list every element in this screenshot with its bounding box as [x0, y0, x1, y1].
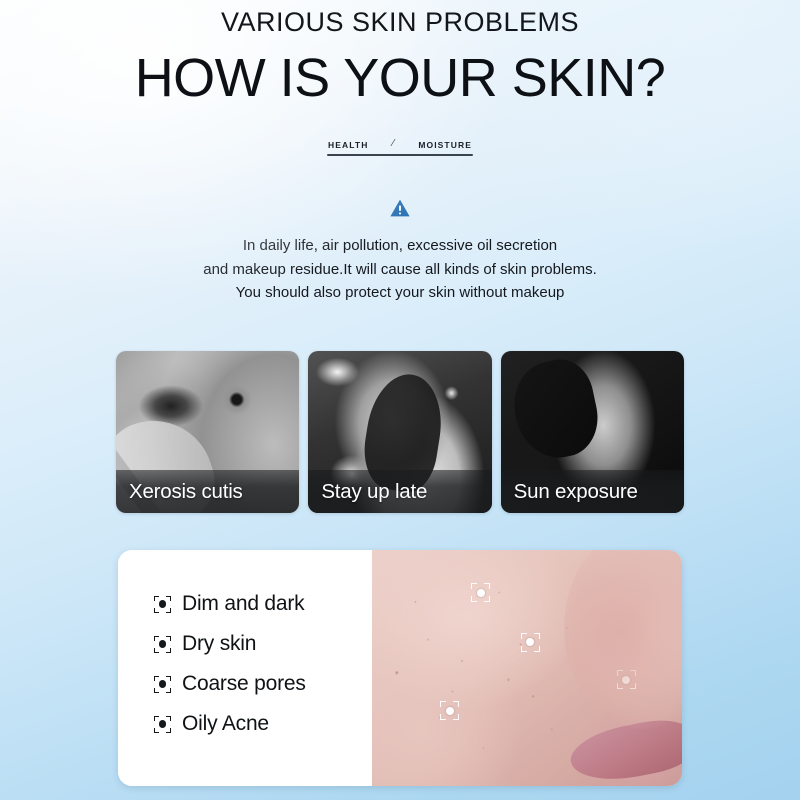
problem-list-container: Dim and dark Dry skin Coarse pores: [118, 550, 372, 786]
eyebrow-text: VARIOUS SKIN PROBLEMS: [0, 6, 800, 38]
card-caption-bar: Stay up late: [308, 470, 491, 513]
page-header: VARIOUS SKIN PROBLEMS HOW IS YOUR SKIN? …: [0, 0, 800, 156]
divider-label-health: HEALTH: [328, 140, 368, 150]
divider-line: [327, 154, 473, 156]
card-caption-bar: Sun exposure: [501, 470, 684, 513]
focus-reticle-icon: [471, 583, 490, 602]
warning-triangle-icon: [389, 198, 411, 218]
focus-point-icon: [154, 676, 171, 693]
problem-card-sun-exposure[interactable]: Sun exposure: [501, 351, 684, 513]
divider-slash-icon: ⁄: [393, 138, 395, 149]
list-item[interactable]: Dry skin: [154, 624, 372, 664]
focus-point-icon: [154, 716, 171, 733]
card-caption-label: Stay up late: [321, 480, 427, 504]
notice-line-1: In daily life, air pollution, excessive …: [0, 234, 800, 257]
focus-reticle-icon: [521, 633, 540, 652]
focus-point-icon: [154, 636, 171, 653]
card-caption-label: Xerosis cutis: [129, 480, 243, 504]
card-caption-bar: Xerosis cutis: [116, 470, 299, 513]
focus-reticle-icon: [617, 670, 636, 689]
notice-line-2: and makeup residue.It will cause all kin…: [0, 258, 800, 281]
problem-cards-row: Xerosis cutis Stay up late Sun exposure: [116, 351, 684, 513]
list-item[interactable]: Coarse pores: [154, 664, 372, 704]
list-item-label: Coarse pores: [182, 672, 306, 696]
problem-list: Dim and dark Dry skin Coarse pores: [154, 584, 372, 744]
page-root: VARIOUS SKIN PROBLEMS HOW IS YOUR SKIN? …: [0, 0, 800, 800]
notice-paragraph: In daily life, air pollution, excessive …: [0, 234, 800, 304]
skin-closeup-cheek-photo: [372, 550, 682, 786]
notice-block: In daily life, air pollution, excessive …: [0, 198, 800, 304]
list-item[interactable]: Oily Acne: [154, 704, 372, 744]
card-caption-label: Sun exposure: [514, 480, 638, 504]
focus-reticle-icon: [440, 701, 459, 720]
page-title: HOW IS YOUR SKIN?: [0, 47, 800, 109]
focus-point-icon: [154, 596, 171, 613]
skin-problems-panel: Dim and dark Dry skin Coarse pores: [118, 550, 682, 786]
lip-detail: [567, 713, 682, 786]
list-item-label: Dry skin: [182, 632, 256, 656]
notice-line-3: You should also protect your skin withou…: [0, 281, 800, 304]
list-item-label: Dim and dark: [182, 592, 304, 616]
divider-label-moisture: MOISTURE: [418, 140, 472, 150]
health-moisture-divider: HEALTH ⁄ MOISTURE: [327, 139, 473, 156]
problem-card-xerosis-cutis[interactable]: Xerosis cutis: [116, 351, 299, 513]
problem-card-stay-up-late[interactable]: Stay up late: [308, 351, 491, 513]
list-item-label: Oily Acne: [182, 712, 269, 736]
list-item[interactable]: Dim and dark: [154, 584, 372, 624]
